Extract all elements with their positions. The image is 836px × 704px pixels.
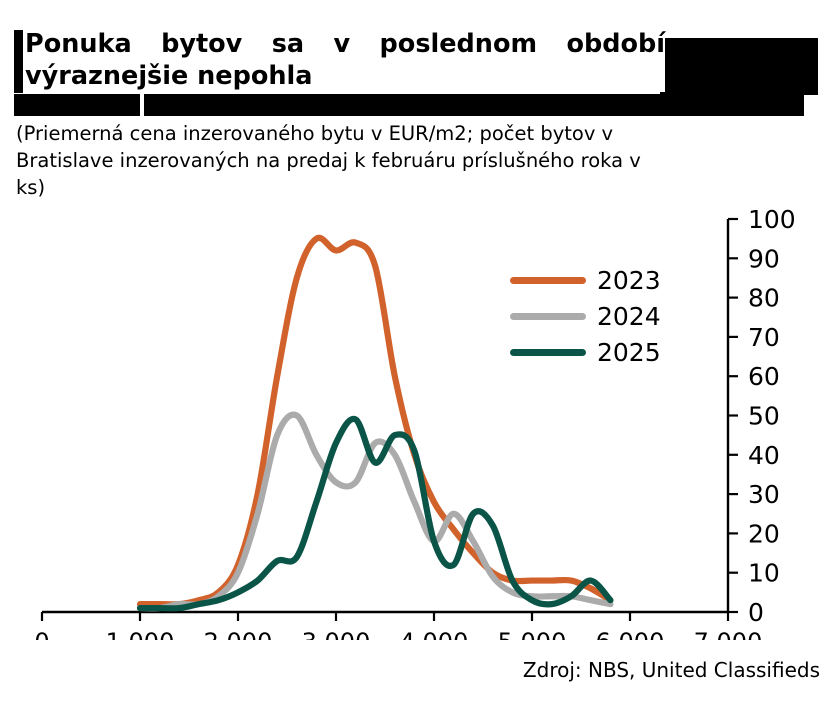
x-tick-label: 2 000 — [204, 628, 273, 640]
title-block: Ponuka bytov sa v poslednom období výraz… — [0, 22, 836, 108]
y-tick-label: 20 — [748, 519, 780, 548]
y-tick-label: 100 — [748, 205, 796, 234]
x-axis-ticks — [42, 612, 728, 621]
line-chart-svg: 01 0002 0003 0004 0005 0006 0007 000 010… — [0, 200, 836, 640]
legend-label-2025: 2025 — [597, 340, 661, 365]
x-axis-tick-labels: 01 0002 0003 0004 0005 0006 0007 000 — [34, 628, 762, 640]
x-tick-label: 6 000 — [596, 628, 665, 640]
legend-item-2024[interactable]: 2024 — [510, 298, 700, 334]
title-accent-bar-bottom — [14, 94, 804, 116]
y-tick-label: 0 — [748, 598, 764, 627]
y-tick-label: 50 — [748, 402, 780, 431]
y-tick-label: 60 — [748, 362, 780, 391]
x-tick-label: 5 000 — [498, 628, 567, 640]
legend-swatch-2024 — [510, 313, 586, 320]
title-accent-block-topright — [660, 38, 818, 95]
legend-item-2025[interactable]: 2025 — [510, 334, 700, 370]
chart-legend: 2023 2024 2025 — [510, 262, 700, 370]
title-accent-bar-notch — [140, 94, 144, 116]
y-tick-label: 80 — [748, 284, 780, 313]
title-accent-bar-left — [14, 30, 23, 93]
legend-label-2024: 2024 — [597, 304, 661, 329]
chart-subtitle: (Priemerná cena inzerovaného bytu v EUR/… — [16, 120, 676, 201]
chart-plot-area: 01 0002 0003 0004 0005 0006 0007 000 010… — [0, 200, 836, 640]
page-title: Ponuka bytov sa v poslednom období výraz… — [25, 28, 665, 92]
x-tick-label: 0 — [34, 628, 49, 640]
x-tick-label: 7 000 — [694, 628, 763, 640]
source-note: Zdroj: NBS, United Classifieds — [523, 658, 820, 682]
x-tick-label: 4 000 — [400, 628, 469, 640]
y-tick-label: 10 — [748, 559, 780, 588]
x-tick-label: 3 000 — [302, 628, 371, 640]
legend-label-2023: 2023 — [597, 268, 661, 293]
y-axis-ticks — [728, 219, 738, 612]
y-tick-label: 30 — [748, 480, 780, 509]
y-tick-label: 90 — [748, 244, 780, 273]
legend-item-2023[interactable]: 2023 — [510, 262, 700, 298]
legend-swatch-2025 — [510, 349, 586, 356]
y-tick-label: 40 — [748, 441, 780, 470]
y-axis-tick-labels: 0102030405060708090100 — [748, 205, 796, 627]
x-tick-label: 1 000 — [106, 628, 175, 640]
y-tick-label: 70 — [748, 323, 780, 352]
legend-swatch-2023 — [510, 277, 586, 284]
